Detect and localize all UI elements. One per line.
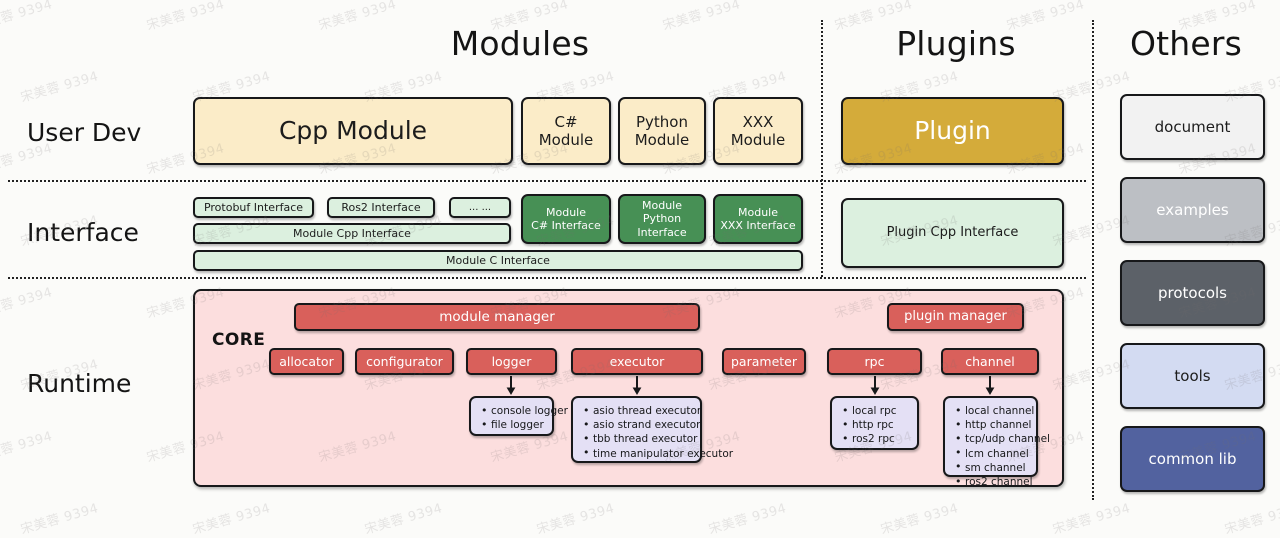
runtime-parameter[interactable]: parameter: [722, 348, 806, 375]
runtime-configurator-label: configurator: [366, 354, 443, 369]
runtime-module-manager[interactable]: module manager: [294, 303, 700, 331]
runtime-channel-label: channel: [965, 354, 1014, 369]
others-item-examples[interactable]: examples: [1120, 177, 1265, 243]
divider-plugins-others: [1092, 20, 1094, 500]
others-item-label: protocols: [1158, 284, 1227, 302]
runtime-executor-list: asio thread executorasio strand executor…: [571, 396, 702, 463]
watermark: 宋美蓉 9394: [0, 425, 54, 465]
user-dev-xxx-module[interactable]: XXX Module: [713, 97, 803, 165]
interface-module-python-label: Module Python Interface: [620, 199, 704, 239]
list-item: lcm channel: [965, 447, 1029, 461]
others-item-document[interactable]: document: [1120, 94, 1265, 160]
runtime-plugin-manager-label: plugin manager: [904, 309, 1007, 325]
runtime-rpc-list: local rpchttp rpcros2 rpc: [830, 396, 919, 450]
runtime-module-manager-label: module manager: [439, 309, 555, 325]
user-dev-python-module[interactable]: Python Module: [618, 97, 706, 165]
list-item: local rpc: [852, 404, 910, 418]
list-item: local channel: [965, 404, 1029, 418]
runtime-rpc-label: rpc: [865, 354, 885, 369]
runtime-allocator[interactable]: allocator: [269, 348, 344, 375]
row-label-user-dev: User Dev: [27, 118, 141, 147]
core-label: CORE: [212, 330, 265, 350]
architecture-diagram: 宋美蓉 9394宋美蓉 9394宋美蓉 9394宋美蓉 9394宋美蓉 9394…: [0, 0, 1280, 519]
runtime-channel-list: local channelhttp channeltcp/udp channel…: [943, 396, 1038, 477]
divider-interface-runtime: [8, 277, 1086, 279]
interface-more[interactable]: ... ...: [449, 197, 511, 218]
interface-module-csharp[interactable]: Module C# Interface: [521, 194, 611, 244]
executor-items: asio thread executorasio strand executor…: [581, 404, 693, 461]
watermark: 宋美蓉 9394: [189, 497, 271, 537]
column-header-others: Others: [1100, 24, 1272, 63]
column-header-modules: Modules: [330, 24, 710, 63]
others-item-common-lib[interactable]: common lib: [1120, 426, 1265, 492]
watermark: 宋美蓉 9394: [533, 497, 615, 537]
list-item: http rpc: [852, 418, 910, 432]
user-dev-plugin-label: Plugin: [914, 116, 991, 146]
user-dev-python-module-label: Python Module: [635, 113, 690, 149]
user-dev-xxx-module-label: XXX Module: [731, 113, 786, 149]
interface-plugin-cpp[interactable]: Plugin Cpp Interface: [841, 198, 1064, 268]
others-item-label: document: [1155, 118, 1231, 136]
list-item: ros2 channel: [965, 475, 1029, 489]
interface-protobuf-label: Protobuf Interface: [204, 201, 303, 214]
interface-protobuf[interactable]: Protobuf Interface: [193, 197, 314, 218]
list-item: file logger: [491, 418, 545, 432]
watermark: 宋美蓉 9394: [17, 497, 99, 537]
row-label-runtime: Runtime: [27, 369, 131, 398]
user-dev-cpp-module-label: Cpp Module: [279, 116, 427, 146]
others-item-label: common lib: [1149, 450, 1237, 468]
watermark: 宋美蓉 9394: [143, 0, 225, 34]
others-item-tools[interactable]: tools: [1120, 343, 1265, 409]
list-item: time manipulator executor: [593, 447, 693, 461]
watermark: 宋美蓉 9394: [1221, 497, 1280, 537]
list-item: asio strand executor: [593, 418, 693, 432]
list-item: ros2 rpc: [852, 432, 910, 446]
runtime-executor-label: executor: [610, 354, 665, 369]
channel-items: local channelhttp channeltcp/udp channel…: [953, 404, 1029, 489]
logger-items: console loggerfile logger: [479, 404, 545, 432]
interface-ros2[interactable]: Ros2 Interface: [327, 197, 435, 218]
runtime-channel[interactable]: channel: [941, 348, 1039, 375]
runtime-rpc[interactable]: rpc: [827, 348, 922, 375]
runtime-parameter-label: parameter: [731, 354, 797, 369]
divider-user-dev-interface: [8, 180, 1086, 182]
runtime-allocator-label: allocator: [279, 354, 333, 369]
interface-module-c[interactable]: Module C Interface: [193, 250, 803, 271]
runtime-logger[interactable]: logger: [466, 348, 557, 375]
interface-more-label: ... ...: [469, 202, 491, 214]
watermark: 宋美蓉 9394: [705, 497, 787, 537]
runtime-plugin-manager[interactable]: plugin manager: [887, 303, 1024, 331]
list-item: tbb thread executor: [593, 432, 693, 446]
interface-module-xxx-label: Module XXX Interface: [720, 206, 795, 232]
others-item-label: examples: [1156, 201, 1228, 219]
interface-ros2-label: Ros2 Interface: [341, 201, 420, 214]
interface-module-c-label: Module C Interface: [446, 254, 550, 267]
divider-modules-plugins: [821, 20, 823, 277]
interface-plugin-cpp-label: Plugin Cpp Interface: [887, 225, 1019, 241]
others-item-label: tools: [1174, 367, 1210, 385]
interface-module-csharp-label: Module C# Interface: [531, 206, 601, 232]
watermark: 宋美蓉 9394: [0, 0, 54, 34]
watermark: 宋美蓉 9394: [1049, 497, 1131, 537]
list-item: tcp/udp channel: [965, 432, 1029, 446]
user-dev-cpp-module[interactable]: Cpp Module: [193, 97, 513, 165]
column-header-plugins: Plugins: [828, 24, 1084, 63]
list-item: sm channel: [965, 461, 1029, 475]
runtime-configurator[interactable]: configurator: [355, 348, 454, 375]
watermark: 宋美蓉 9394: [361, 497, 443, 537]
interface-module-cpp[interactable]: Module Cpp Interface: [193, 223, 511, 244]
row-label-interface: Interface: [27, 218, 139, 247]
user-dev-plugin[interactable]: Plugin: [841, 97, 1064, 165]
runtime-executor[interactable]: executor: [571, 348, 703, 375]
rpc-items: local rpchttp rpcros2 rpc: [840, 404, 910, 447]
interface-module-python[interactable]: Module Python Interface: [618, 194, 706, 244]
interface-module-xxx[interactable]: Module XXX Interface: [713, 194, 803, 244]
runtime-logger-list: console loggerfile logger: [469, 396, 554, 436]
watermark: 宋美蓉 9394: [17, 65, 99, 105]
user-dev-csharp-module[interactable]: C# Module: [521, 97, 611, 165]
list-item: console logger: [491, 404, 545, 418]
watermark: 宋美蓉 9394: [877, 497, 959, 537]
others-item-protocols[interactable]: protocols: [1120, 260, 1265, 326]
interface-module-cpp-label: Module Cpp Interface: [293, 227, 411, 240]
user-dev-csharp-module-label: C# Module: [539, 113, 594, 149]
watermark: 宋美蓉 9394: [0, 281, 54, 321]
list-item: asio thread executor: [593, 404, 693, 418]
runtime-logger-label: logger: [492, 354, 532, 369]
list-item: http channel: [965, 418, 1029, 432]
